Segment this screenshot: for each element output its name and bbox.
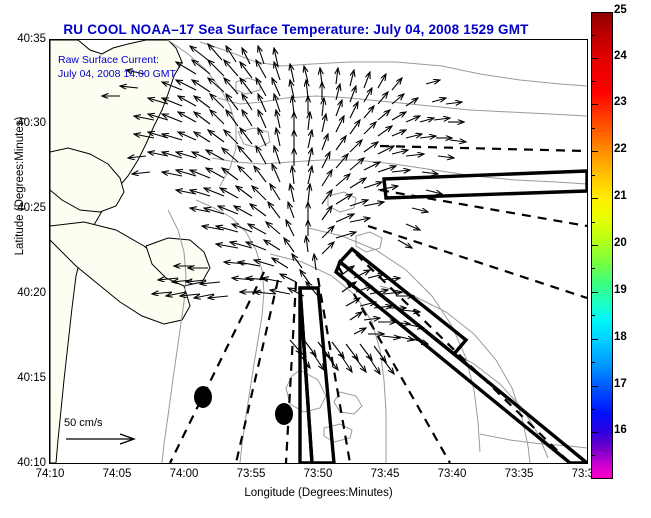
sst-map-figure: RU COOL NOAA–17 Sea Surface Temperature:… — [0, 0, 651, 518]
station-markers — [194, 386, 293, 425]
colorbar-tick-label: 22 — [614, 143, 627, 155]
figure-title: RU COOL NOAA–17 Sea Surface Temperature:… — [0, 22, 592, 37]
colorbar-tick-label: 23 — [614, 96, 627, 108]
x-tick-label: 73:35 — [489, 468, 549, 480]
y-axis-title: Latitude (Degrees:Minutes) — [14, 86, 26, 286]
colorbar-tick-label: 20 — [614, 237, 627, 249]
map-canvas — [50, 40, 587, 463]
x-tick-label: 74:05 — [87, 468, 147, 480]
map-plot-area: Raw Surface Current: July 04, 2008 14:00… — [49, 39, 588, 464]
annotation-line-1: Raw Surface Current: — [58, 54, 159, 66]
colorbar-tick-label: 24 — [614, 50, 627, 62]
x-tick-label: 73:45 — [355, 468, 415, 480]
y-tick-label: 40:15 — [0, 372, 46, 384]
x-tick-label: 74:00 — [154, 468, 214, 480]
annotation-line-2: July 04, 2008 14:00 GMT — [58, 68, 176, 80]
y-tick-label: 40:20 — [0, 287, 46, 299]
x-axis-labels: 74:10 74:05 74:00 73:55 73:50 73:45 73:4… — [49, 468, 609, 484]
x-tick-label: 73:55 — [221, 468, 281, 480]
y-tick-label: 40:35 — [0, 33, 46, 45]
x-tick-label: 73:40 — [422, 468, 482, 480]
scale-label: 50 cm/s — [64, 417, 103, 429]
colorbar-tick-label: 25 — [614, 4, 627, 16]
colorbar-tick-label: 18 — [614, 331, 627, 343]
x-tick-label: 73:50 — [288, 468, 348, 480]
land-polygons — [50, 40, 210, 463]
scale-arrow — [66, 434, 134, 444]
colorbar-tick-label: 21 — [614, 190, 627, 202]
x-tick-label: 74:10 — [20, 468, 80, 480]
x-axis-title: Longitude (Degrees:Minutes) — [49, 487, 588, 499]
colorbar-tick-label: 16 — [614, 424, 627, 436]
shipping-lane-polygons — [300, 171, 587, 463]
colorbar-tick-label: 19 — [614, 284, 627, 296]
bathymetry-contours — [162, 40, 587, 463]
colorbar-tick-label: 17 — [614, 378, 627, 390]
